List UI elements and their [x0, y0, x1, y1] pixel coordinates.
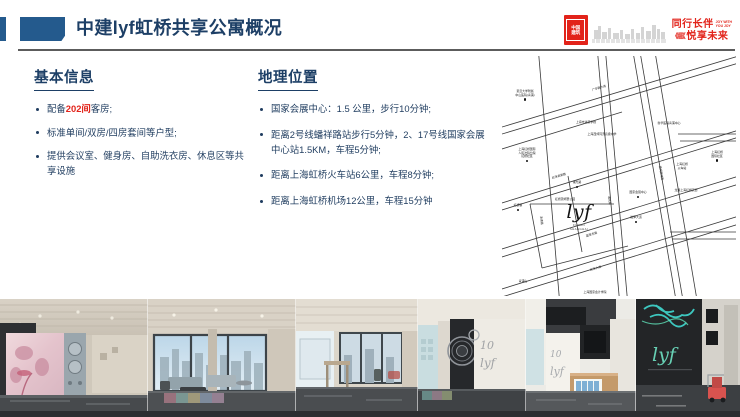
map-poi-label: 复旦大学附属 中山医院(青浦) — [515, 89, 534, 97]
photo-lounge-city-view — [148, 299, 296, 417]
map-poi-dot — [716, 159, 719, 162]
svg-text:10: 10 — [480, 339, 494, 352]
photo-strip-row: 10 lyf — [0, 299, 740, 417]
map-poi: 青浦山 — [512, 280, 534, 284]
tagline-english: JOY WITH YOU JOY — [716, 21, 732, 30]
location-list: 国家会展中心：1.5 公里，步行10分钟; 距离2号线蟠祥路站步行5分钟，2、1… — [258, 102, 488, 209]
map-poi: 上海国家会计学院 — [572, 291, 618, 295]
tagline-line-2: 悦享未来 — [686, 31, 728, 42]
section-basic-info: 基本信息 配备202间客房; 标准单间/双房/四房套间等户型; 提供会议室、健身… — [34, 66, 249, 187]
list-item: 提供会议室、健身房、自助洗衣房、休息区等共享设施 — [34, 149, 249, 178]
map-poi-label: 上海西郊同济高级中学 — [588, 132, 617, 136]
chevrons-icon: 《《《《 — [672, 31, 685, 41]
slide-root: 中建lyf虹桥共享公寓概况 中国建筑 — [0, 0, 740, 417]
map-poi: 崧泽大道 — [622, 216, 650, 223]
photo-lobby-lounge-mural — [0, 299, 148, 417]
map-poi-dot — [526, 160, 529, 163]
bullet-text-pre: 提供会议室、健身房、自助洗衣房、休息区等共享设施 — [47, 150, 244, 176]
photo-coworking-bar — [296, 299, 418, 417]
list-item: 标准单间/双房/四房套间等户型; — [34, 126, 249, 141]
photo-neon-lyf-atrium: lyf — [636, 299, 740, 417]
list-item: 配备202间客房; — [34, 102, 249, 117]
svg-text:lyf: lyf — [652, 344, 679, 366]
map-poi: 上海虹桥 火车站 — [666, 163, 698, 170]
map-poi-dot — [637, 196, 640, 199]
svg-text:10: 10 — [550, 350, 562, 360]
list-item: 国家会展中心：1.5 公里，步行10分钟; — [258, 102, 488, 117]
map-poi: 诸光路 — [564, 181, 590, 188]
basic-info-list: 配备202间客房; 标准单间/双房/四房套间等户型; 提供会议室、健身房、自助洗… — [34, 102, 249, 178]
map-poi-label: 上海虹桥国际 人民法院分院 虹桥社区 — [518, 147, 535, 158]
bullet-highlight: 202间 — [66, 103, 91, 114]
basic-info-heading: 基本信息 — [34, 66, 94, 91]
map-poi-dot — [576, 186, 579, 189]
map-poi: 龙湖上海虹桥天街 — [664, 189, 708, 193]
bullet-text-pre: 标准单间/双房/四房套间等户型; — [47, 127, 177, 138]
map-poi: 上海虹桥国际 人民法院分院 虹桥社区 — [510, 148, 544, 162]
svg-text:lyf: lyf — [550, 365, 566, 378]
location-heading: 地理位置 — [258, 66, 318, 91]
brand-cluster: 中国建筑 — [564, 12, 732, 48]
map-poi-label: 上海虹桥 国际社区 — [711, 150, 723, 158]
map-poi-label: 虹桥镇 — [514, 203, 523, 207]
map-poi: 虹桥源郊野公园 — [546, 198, 584, 202]
map-poi-label: 龙湖上海虹桥天街 — [674, 188, 697, 192]
map-poi: 上海西郊同济高级中学 — [580, 133, 624, 137]
photo-strip: 10 lyf — [0, 299, 740, 417]
photo-reception-desk: 10 lyf — [526, 299, 636, 417]
map-poi: 国家会展中心 — [620, 191, 656, 198]
cscec-logo-text: 中国建筑 — [566, 19, 585, 41]
map-poi: 上海市进源学校 — [568, 121, 604, 125]
map-poi-label: 上海虹桥 火车站 — [676, 162, 688, 170]
cscec-logo-icon: 中国建筑 — [564, 15, 588, 45]
slide-header: 中建lyf虹桥共享公寓概况 中国建筑 — [0, 0, 740, 56]
map-poi-label: 青浦山 — [519, 279, 528, 283]
map-poi: 上海虹桥 国际社区 — [702, 151, 732, 162]
map-poi-label: 国家会展中心 — [629, 190, 646, 194]
map-poi-dot — [635, 221, 638, 224]
brand-tagline: 同行长伴 JOY WITH YOU JOY 《《《《 悦享未来 — [670, 19, 732, 42]
bullet-text-pre: 配备 — [47, 103, 66, 114]
header-accent-bar-main — [20, 17, 65, 41]
photo-strip-footer-bar — [0, 411, 740, 417]
svg-text:lyf: lyf — [480, 356, 498, 370]
map-poi-label: 上海市进源学校 — [576, 120, 596, 124]
tagline-line-1: 同行长伴 — [672, 19, 714, 30]
map-poi-label: 崧泽大道 — [630, 215, 642, 219]
header-divider — [18, 49, 735, 51]
city-skyline-icon — [592, 17, 666, 43]
map-poi: 新华医院青浦中心 — [648, 122, 690, 126]
map-poi-label: 诸光路 — [573, 180, 582, 184]
list-item: 距离2号线蟠祥路站步行5分钟，2、17号线国家会展中心站1.5KM，车程5分钟; — [258, 128, 488, 158]
map-poi: 虹桥镇 — [506, 204, 530, 211]
tagline-en-2: YOU JOY — [716, 25, 732, 29]
photo-corridor-signage: 10 lyf — [418, 299, 526, 417]
page-title: 中建lyf虹桥共享公寓概况 — [76, 14, 282, 40]
map-poi-dot — [524, 98, 527, 101]
map-poi-label: 新华医院青浦中心 — [657, 121, 680, 125]
map-poi: 复旦大学附属 中山医院(青浦) — [506, 90, 544, 101]
map-poi-label: 虹桥源郊野公园 — [555, 197, 575, 201]
section-location: 地理位置 国家会展中心：1.5 公里，步行10分钟; 距离2号线蟠祥路站步行5分… — [258, 66, 488, 220]
list-item: 距离上海虹桥火车站6公里，车程8分钟; — [258, 168, 488, 183]
map-poi-label: 上海国家会计学院 — [583, 290, 606, 294]
bullet-text-post: 客房; — [91, 103, 112, 114]
header-accent-bar-small — [0, 17, 7, 41]
list-item: 距离上海虹桥机场12公里，车程15分钟 — [258, 194, 488, 209]
location-map[interactable]: lyf FUNANSHANGHAI 复旦大学附属 中山医院(青浦) 上海市进源学… — [502, 56, 736, 296]
map-poi-dot — [517, 209, 520, 212]
